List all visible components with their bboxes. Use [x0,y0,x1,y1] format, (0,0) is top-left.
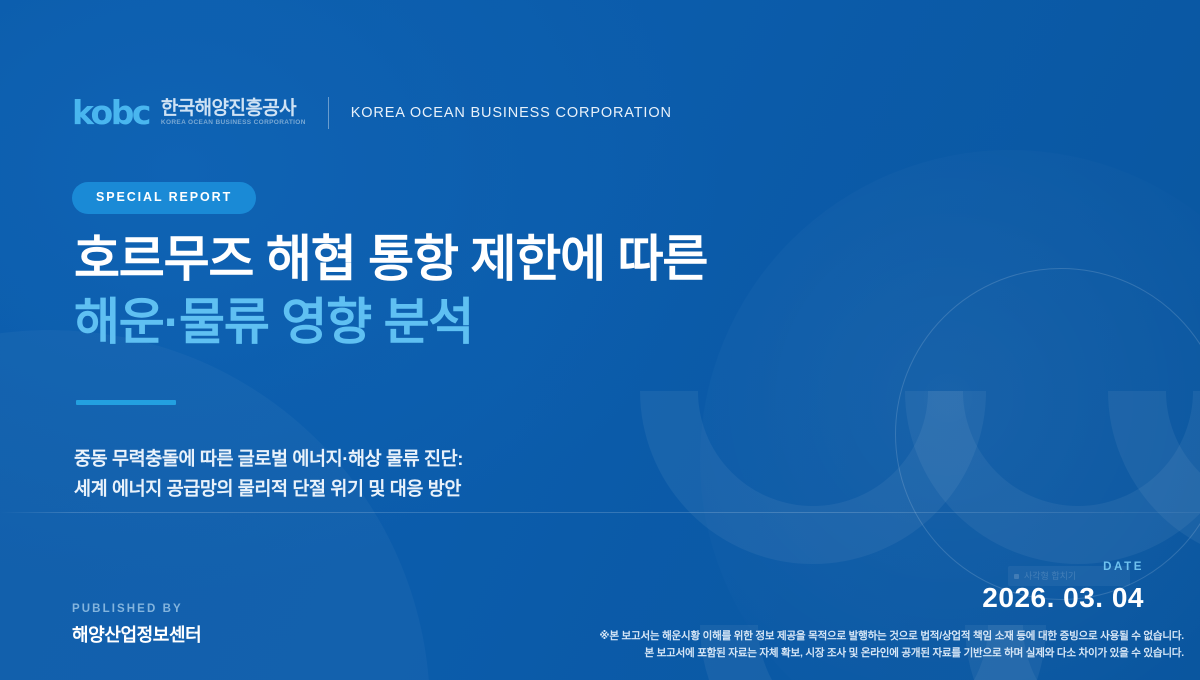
background-arc-motif-2 [905,218,1200,564]
page-subtitle-line-1: 중동 무력충돌에 따른 글로벌 에너지·해상 물류 진단: [74,444,463,474]
title-accent-bar [76,400,176,405]
date-value: 2026. 03. 04 [982,584,1144,612]
page-subtitle: 중동 무력충돌에 따른 글로벌 에너지·해상 물류 진단: 세계 에너지 공급망… [74,444,463,504]
header-vertical-separator [328,97,329,129]
special-report-badge: SPECIAL REPORT [72,182,256,214]
horizontal-divider [0,512,1200,513]
brand-header: kobc 한국해양진흥공사 KOREA OCEAN BUSINESS CORPO… [72,96,672,129]
disclaimer-line-2: 본 보고서에 포함된 자료는 자체 확보, 시장 조사 및 온라인에 공개된 자… [599,645,1184,662]
kobc-logo-english-name: KOREA OCEAN BUSINESS CORPORATION [351,105,672,121]
page-title-line-1: 호르무즈 해협 통항 제한에 따른 [74,228,707,291]
page-title: 호르무즈 해협 통항 제한에 따른 해운·물류 영향 분석 [74,228,707,354]
background-arc-motif-3 [1108,218,1200,564]
kobc-logo-korean-name: 한국해양진흥공사 KOREA OCEAN BUSINESS CORPORATIO… [161,99,306,127]
disclaimer-line-1: ※본 보고서는 해운시황 이해를 위한 정보 제공을 목적으로 발행하는 것으로… [599,628,1184,645]
page-title-line-2: 해운·물류 영향 분석 [74,291,707,354]
background-ring-outline [895,268,1200,600]
publisher-block: PUBLISHED BY 해양산업정보센터 [72,604,201,644]
page-subtitle-line-2: 세계 에너지 공급망의 물리적 단절 위기 및 대응 방안 [74,474,463,504]
report-cover-slide: kobc 한국해양진흥공사 KOREA OCEAN BUSINESS CORPO… [0,0,1200,680]
date-label: DATE [982,562,1144,574]
kobc-logo-korean-sub: KOREA OCEAN BUSINESS CORPORATION [161,120,306,127]
publisher-name: 해양산업정보센터 [72,626,201,644]
disclaimer-block: ※본 보고서는 해운시황 이해를 위한 정보 제공을 목적으로 발행하는 것으로… [599,628,1184,663]
background-circle-lower-left [0,330,430,680]
kobc-logo-mark-icon: kobc [72,96,149,129]
publisher-label: PUBLISHED BY [72,604,201,616]
date-block: DATE 2026. 03. 04 [982,562,1144,612]
kobc-logo: kobc 한국해양진흥공사 KOREA OCEAN BUSINESS CORPO… [72,96,306,129]
kobc-logo-korean-main: 한국해양진흥공사 [161,99,306,118]
